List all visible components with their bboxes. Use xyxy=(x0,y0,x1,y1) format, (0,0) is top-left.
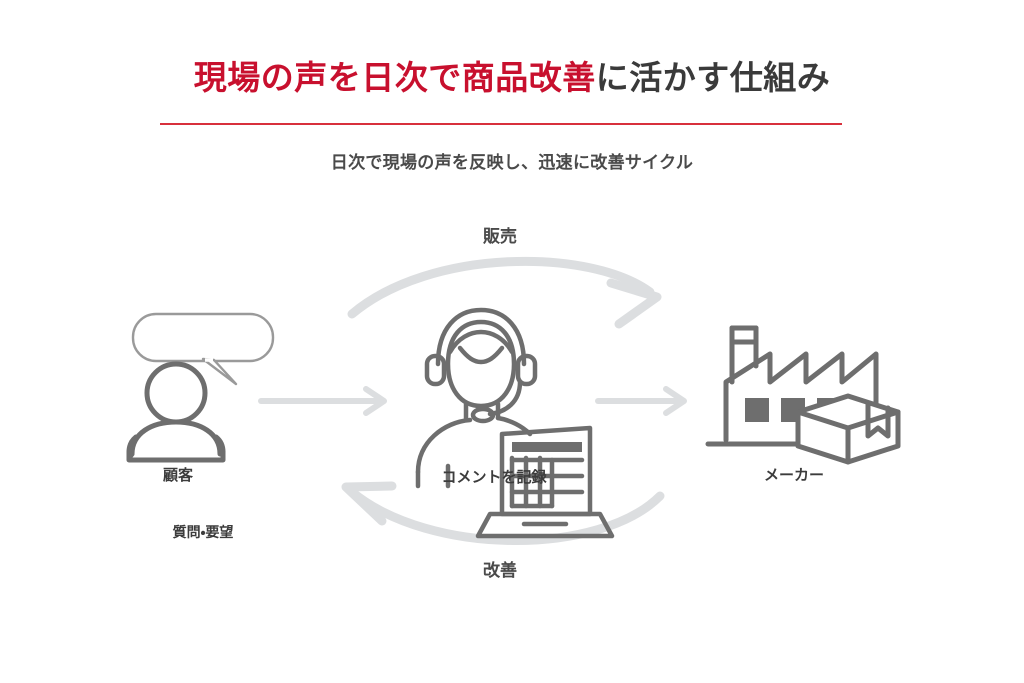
arc-label-bottom: 改善 xyxy=(380,556,620,581)
page-header: 現場の声を日次で商品改善に活かす仕組み xyxy=(0,58,1024,98)
node-label-maker: メーカー xyxy=(664,464,924,485)
arc-label-top: 販売 xyxy=(380,222,620,247)
cycle-diagram: 質問・要望 xyxy=(0,196,1024,616)
speech-bubble-text: 質問・要望 xyxy=(135,522,271,542)
title-divider xyxy=(160,123,842,125)
person-icon xyxy=(129,364,223,460)
arrow-operator-to-maker xyxy=(598,389,684,413)
headset-operator-laptop-icon xyxy=(418,310,612,536)
node-label-customer: 顧客 xyxy=(48,464,308,485)
factory-box-icon xyxy=(708,328,898,462)
page-title-accent: 現場の声を日次で商品改善 xyxy=(194,59,596,96)
page-title-plain: に活かす仕組み xyxy=(596,59,831,96)
page-title: 現場の声を日次で商品改善に活かす仕組み xyxy=(0,58,1024,98)
node-label-operator: コメントを記録 xyxy=(364,466,624,487)
page-subtitle: 日次で現場の声を反映し、迅速に改善サイクル xyxy=(0,148,1024,173)
slide-canvas: 現場の声を日次で商品改善に活かす仕組み 日次で現場の声を反映し、迅速に改善サイク… xyxy=(0,0,1024,683)
arrow-customer-to-operator xyxy=(261,389,384,413)
